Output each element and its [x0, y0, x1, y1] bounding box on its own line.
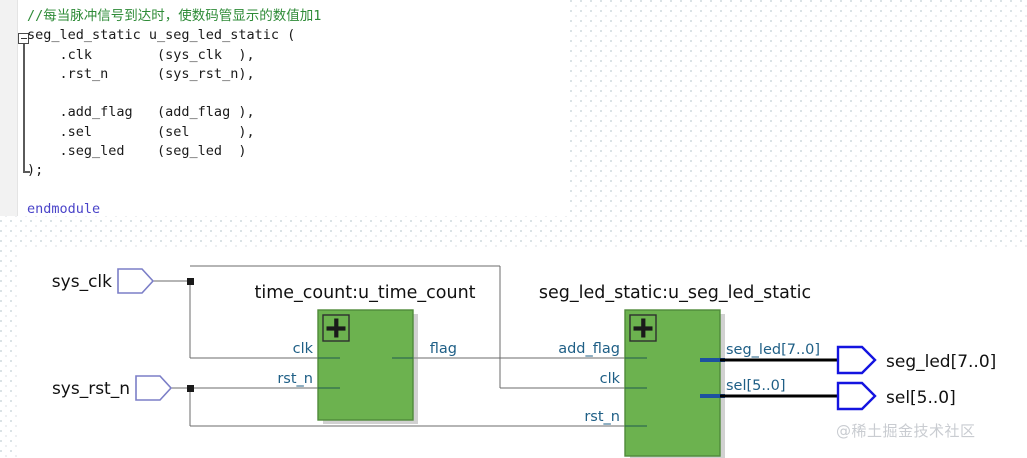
junction-dot-sysclk	[187, 278, 194, 285]
code-line: .seg_led (seg_led )	[27, 142, 321, 161]
pin-label-sls-clk: clk	[600, 371, 621, 387]
editor-gutter	[0, 0, 18, 216]
code-token-plain: );	[27, 162, 43, 178]
watermark: @稀土掘金技术社区	[836, 420, 976, 441]
code-editor-pane[interactable]: //每当脉冲信号到达时，使数码管显示的数值加1seg_led_static u_…	[0, 0, 569, 216]
input-port-sys-clk[interactable]	[118, 269, 153, 293]
output-port-seg-led[interactable]	[838, 347, 875, 373]
code-line: );	[27, 161, 321, 180]
input-port-label-sys-rst-n: sys_rst_n	[52, 379, 130, 399]
block-time-count[interactable]	[318, 310, 418, 424]
code-line: //每当脉冲信号到达时，使数码管显示的数值加1	[27, 7, 321, 26]
code-token-plain: .add_flag (add_flag ),	[27, 104, 255, 120]
code-token-plain: .rst_n (sys_rst_n),	[27, 66, 255, 82]
code-line: seg_led_static u_seg_led_static (	[27, 26, 321, 45]
code-token-plain: seg_led_static u_seg_led_static (	[27, 27, 295, 43]
output-port-sel[interactable]	[838, 383, 875, 409]
pin-label-sls-seg-led: seg_led[7..0]	[726, 342, 820, 358]
pin-label-sls-rst-n: rst_n	[584, 409, 620, 425]
block-title-seg-led-static: seg_led_static:u_seg_led_static	[539, 283, 811, 303]
code-token-key: endmodule	[27, 201, 100, 216]
input-port-label-sys-clk: sys_clk	[52, 272, 112, 292]
code-text[interactable]: //每当脉冲信号到达时，使数码管显示的数值加1seg_led_static u_…	[27, 7, 321, 216]
code-line: .clk (sys_clk ),	[27, 46, 321, 65]
code-token-plain: .seg_led (seg_led )	[27, 143, 246, 159]
pin-label-tc-clk: clk	[293, 341, 314, 357]
junction-dot-sysrstn	[187, 385, 194, 392]
code-line: endmodule	[27, 200, 321, 216]
code-line	[27, 181, 321, 200]
input-port-sys-rst-n[interactable]	[136, 376, 171, 400]
block-title-time-count: time_count:u_time_count	[254, 283, 475, 303]
pin-label-tc-flag: flag	[430, 341, 457, 357]
pin-label-tc-rst-n: rst_n	[277, 371, 313, 387]
code-line: .sel (sel ),	[27, 123, 321, 142]
code-token-comment: //每当脉冲信号到达时，使数码管显示的数值加1	[27, 8, 321, 24]
pin-label-sls-add-flag: add_flag	[558, 341, 620, 357]
code-line: .rst_n (sys_rst_n),	[27, 65, 321, 84]
screenshot-root: //每当脉冲信号到达时，使数码管显示的数值加1seg_led_static u_…	[0, 0, 1027, 458]
block-seg-led-static[interactable]	[625, 310, 725, 458]
output-port-label-sel: sel[5..0]	[886, 388, 956, 408]
code-line	[27, 84, 321, 103]
plus-icon	[630, 315, 656, 341]
code-line: .add_flag (add_flag ),	[27, 103, 321, 122]
output-port-label-seg-led: seg_led[7..0]	[886, 352, 996, 372]
code-token-plain: .sel (sel ),	[27, 124, 255, 140]
plus-icon	[323, 315, 349, 341]
pin-label-sls-sel: sel[5..0]	[726, 378, 786, 394]
code-token-plain: .clk (sys_clk ),	[27, 47, 255, 63]
code-fold-bracket	[23, 44, 25, 173]
